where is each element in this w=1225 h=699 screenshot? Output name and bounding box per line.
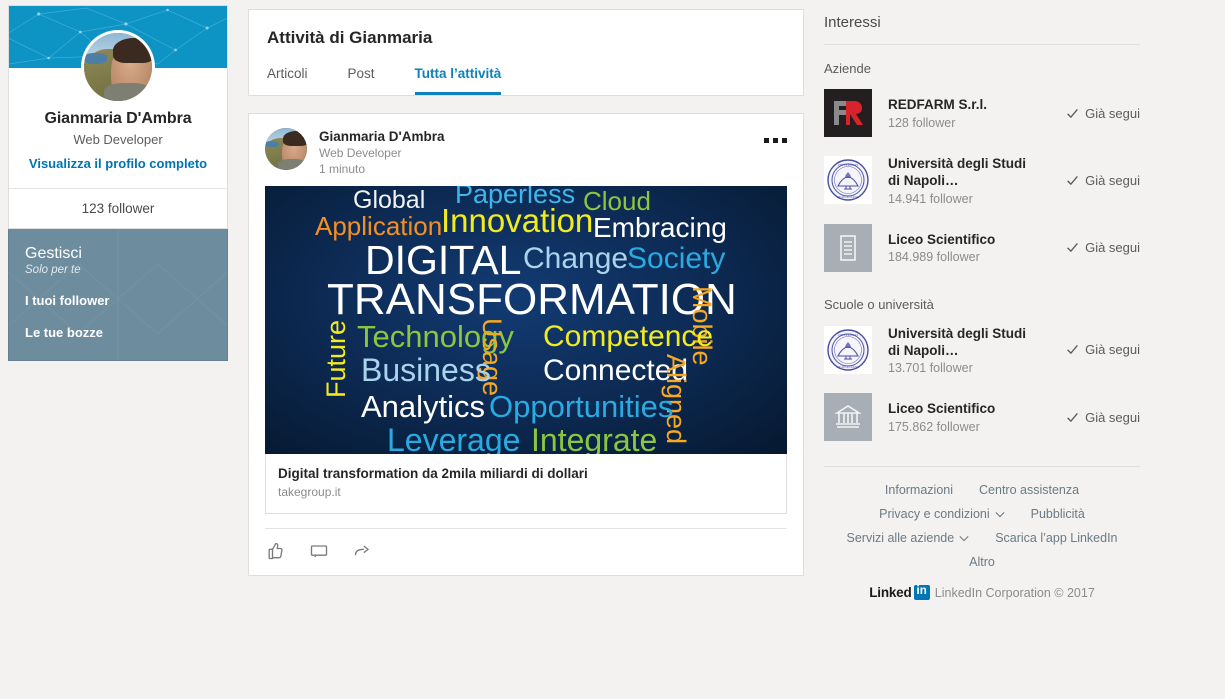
profile-headline: Web Developer [21,132,215,147]
follow-button[interactable]: Già segui [1066,106,1140,121]
post-author-avatar[interactable] [265,128,307,170]
right-sidebar: Interessi Aziende REDFARM S.r.l. 128 fol… [824,14,1140,600]
footer-link-altro[interactable]: Altro [969,555,995,569]
wordcloud-word: Application [315,213,442,239]
list-item[interactable]: Liceo Scientifico 175.862 follower Già s… [824,384,1140,450]
post-card: Gianmaria D'Ambra Web Developer 1 minuto… [248,113,804,576]
wordcloud-word: Innovation [441,204,593,237]
section-label-scuole: Scuole o università [824,297,1140,312]
university-seal-logo: UNIVERSITAS NEAPOLITANA [824,156,872,204]
follow-label: Già segui [1085,240,1140,255]
bank-school-icon [824,393,872,441]
link-title: Digital transformation da 2mila miliardi… [278,466,774,481]
check-icon [1066,107,1079,120]
footer-link-privacy[interactable]: Privacy e condizioni [879,507,1004,521]
linkedin-logo: Linked in [869,585,930,600]
footer-link-pubblicita[interactable]: Pubblicità [1031,507,1085,521]
tab-post[interactable]: Post [348,60,375,95]
chevron-down-icon [995,511,1005,518]
footer-row: Servizi alle aziende Scarica l’app Linke… [824,531,1140,545]
svg-text:UNIVERSITAS: UNIVERSITAS [838,333,859,337]
post-header: Gianmaria D'Ambra Web Developer 1 minuto [249,114,803,186]
tab-articoli[interactable]: Articoli [267,60,308,95]
profile-name: Gianmaria D'Ambra [21,110,215,128]
activity-card: Attività di Gianmaria Articoli Post Tutt… [248,9,804,96]
ellipsis-icon[interactable] [764,138,787,143]
follow-label: Già segui [1085,410,1140,425]
interests-title: Interessi [824,14,1140,31]
footer-row: Informazioni Centro assistenza [824,483,1140,497]
entity-name: Liceo Scientifico [888,400,1028,417]
linkedin-activity-page: Gianmaria D'Ambra Web Developer Visualiz… [0,0,1225,699]
list-item[interactable]: REDFARM S.r.l. 128 follower Già segui [824,80,1140,146]
wordcloud-word: Analytics [361,391,485,422]
manage-subtitle: Solo per te [25,264,211,276]
svg-text:NEAPOLITANA: NEAPOLITANA [837,195,860,199]
post-avatar-image [265,128,307,170]
wordcloud-word: Leverage [387,424,520,454]
view-full-profile-link[interactable]: Visualizza il profilo completo [21,155,215,174]
follow-label: Già segui [1085,173,1140,188]
entity-name: Liceo Scientifico [888,231,1028,248]
copyright: Linked in LinkedIn Corporation © 2017 [824,585,1140,600]
wordcloud-word: Competence [543,322,713,352]
footer-link-informazioni[interactable]: Informazioni [885,483,953,497]
footer-link-scarica-app[interactable]: Scarica l’app LinkedIn [995,531,1117,545]
footer: Informazioni Centro assistenza Privacy e… [824,466,1140,600]
footer-link-centro-assistenza[interactable]: Centro assistenza [979,483,1079,497]
entity-name: Università degli Studi di Napoli… [888,325,1028,360]
post-timestamp: 1 minuto [319,162,445,176]
redfarm-logo [824,89,872,137]
footer-link-servizi-aziende[interactable]: Servizi alle aziende [847,531,970,545]
entity-text: Università degli Studi di Napoli… 13.701… [888,325,1028,376]
wordcloud-word: Opportunities [489,391,673,422]
profile-card: Gianmaria D'Ambra Web Developer Visualiz… [8,5,228,229]
follow-button[interactable]: Già segui [1066,240,1140,255]
follow-label: Già segui [1085,342,1140,357]
post-author-headline: Web Developer [319,146,445,160]
avatar[interactable] [81,30,155,104]
building-icon [824,224,872,272]
entity-followers: 184.989 follower [888,250,1028,264]
entity-text: Liceo Scientifico 184.989 follower [888,231,1028,264]
post-author-name[interactable]: Gianmaria D'Ambra [319,129,445,144]
entity-followers: 13.701 follower [888,361,1028,375]
entity-text: Università degli Studi di Napoli… 14.941… [888,155,1028,206]
entity-followers: 14.941 follower [888,192,1028,206]
footer-row: Privacy e condizioni Pubblicità [824,507,1140,521]
chevron-down-icon [959,535,969,542]
main-content: Attività di Gianmaria Articoli Post Tutt… [248,9,804,576]
wordcloud-word: Future [323,320,350,398]
follow-label: Già segui [1085,106,1140,121]
linkedin-wordmark: Linked [869,585,911,600]
entity-name: Università degli Studi di Napoli… [888,155,1028,190]
wordcloud-word: Business [361,354,491,386]
entity-text: REDFARM S.r.l. 128 follower [888,96,1028,129]
link-domain: takegroup.it [278,485,774,499]
linkedin-in-badge: in [914,585,930,600]
link-preview[interactable]: Digital transformation da 2mila miliardi… [265,454,787,514]
section-label-aziende: Aziende [824,61,1140,76]
tab-tutta-attivita[interactable]: Tutta l’attività [415,60,502,95]
share-icon[interactable] [353,541,373,561]
footer-link-label: Privacy e condizioni [879,507,989,521]
wordcloud-word: Global [353,188,425,213]
svg-text:UNIVERSITAS: UNIVERSITAS [838,163,859,167]
footer-link-label: Servizi alle aziende [847,531,955,545]
divider [824,44,1140,45]
like-icon[interactable] [265,541,285,561]
wordcloud-word: Integrate [531,424,657,454]
entity-followers: 128 follower [888,116,1028,130]
activity-tabs: Articoli Post Tutta l’attività [267,60,785,95]
comment-icon[interactable] [309,541,329,561]
copyright-text: LinkedIn Corporation © 2017 [935,586,1095,600]
post-image-wordcloud[interactable]: GlobalPaperlessCloudApplicationInnovatio… [265,186,787,454]
manage-panel: Gestisci Solo per te I tuoi follower Le … [8,229,228,361]
wordcloud-word: Change [523,244,628,274]
left-sidebar: Gianmaria D'Ambra Web Developer Visualiz… [8,5,228,361]
follow-button[interactable]: Già segui [1066,342,1140,357]
post-actions [265,528,787,575]
follow-button[interactable]: Già segui [1066,410,1140,425]
manage-item-followers[interactable]: I tuoi follower [25,293,211,308]
list-item[interactable]: Liceo Scientifico 184.989 follower Già s… [824,215,1140,281]
page-title: Attività di Gianmaria [267,28,785,48]
manage-title: Gestisci [25,245,211,263]
follow-button[interactable]: Già segui [1066,173,1140,188]
entity-name: REDFARM S.r.l. [888,96,1028,113]
manage-item-drafts[interactable]: Le tue bozze [25,325,211,340]
university-seal-logo: UNIVERSITAS NEAPOLITANA [824,326,872,374]
list-item[interactable]: UNIVERSITAS NEAPOLITANA Università degli… [824,146,1140,215]
entity-followers: 175.862 follower [888,420,1028,434]
wordcloud-word: Society [627,244,725,274]
avatar-image [84,33,152,101]
svg-text:NEAPOLITANA: NEAPOLITANA [837,365,860,369]
check-icon [1066,241,1079,254]
wordcloud-word: TRANSFORMATION [327,278,737,322]
post-author-meta: Gianmaria D'Ambra Web Developer 1 minuto [319,128,445,176]
wordcloud-word: Embracing [593,214,727,242]
follower-count: 123 follower [9,188,227,228]
list-item[interactable]: UNIVERSITAS NEAPOLITANA Università degli… [824,316,1140,385]
check-icon [1066,343,1079,356]
check-icon [1066,411,1079,424]
footer-row: Altro [824,555,1140,569]
entity-text: Liceo Scientifico 175.862 follower [888,400,1028,433]
check-icon [1066,174,1079,187]
